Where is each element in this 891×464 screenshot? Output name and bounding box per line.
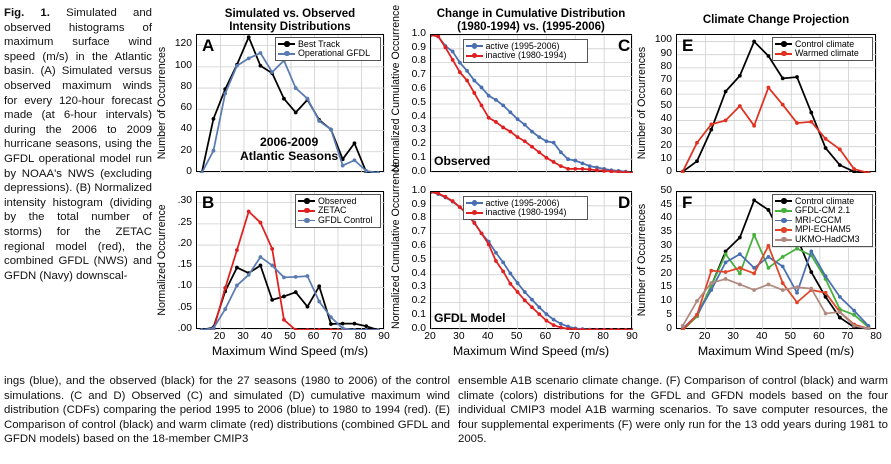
- panel-label-b: B: [202, 193, 214, 213]
- legend-b: Observed ZETAC GFDL Control: [295, 194, 381, 228]
- legend-swatch-mri-cgcm: [775, 216, 792, 225]
- panel-title-c: Change in Cumulative Distribution(1980-1…: [418, 8, 644, 33]
- caption-bottom-right: ensemble A1B scenario climate change. (F…: [458, 374, 888, 447]
- figure-number: Fig. 1.: [4, 7, 50, 19]
- legend-swatch-ukmo-hadcm3: [775, 235, 792, 244]
- annotation-line-2: Atlantic Seasons: [240, 149, 338, 163]
- legend-swatch-active-1995-2006-: [466, 199, 483, 208]
- panel-annotation-a: 2006-2009Atlantic Seasons: [240, 136, 338, 163]
- caption-left-body: Simulated and observed histograms of max…: [4, 7, 152, 282]
- annotation-line-1: 2006-2009: [260, 135, 318, 149]
- panel-title-a: Simulated vs. ObservedIntensity Distribu…: [188, 8, 392, 33]
- legend-row: Warmed climate: [775, 49, 869, 59]
- x-tick-label: 70: [560, 331, 588, 342]
- legend-label: Warmed climate: [795, 49, 859, 59]
- caption-bottom-left: ings (blue), and the observed (black) fo…: [4, 374, 450, 447]
- x-tick-label: 50: [776, 331, 804, 342]
- y-axis-title-a: Number of Occurrences: [156, 34, 168, 172]
- x-tick-label: 80: [862, 331, 890, 342]
- x-axis-title-f: Maximum Wind Speed (m/s): [676, 344, 876, 358]
- legend-swatch-active-1995-2006-: [466, 42, 483, 51]
- panel-label-a: A: [202, 36, 214, 56]
- x-tick-label: 60: [531, 331, 559, 342]
- legend-swatch-control-climate: [775, 197, 792, 206]
- legend-label: inactive (1980-1994): [486, 208, 567, 218]
- panel-annotation-c: Observed: [434, 155, 490, 169]
- legend-row: Operational GFDL: [278, 49, 377, 59]
- legend-row: UKMO-HadCM3: [775, 235, 869, 245]
- panel-label-d: D: [618, 193, 630, 213]
- legend-swatch-best-track: [278, 40, 295, 49]
- legend-swatch-mpi-echam5: [775, 226, 792, 235]
- x-tick-label: 20: [416, 331, 444, 342]
- x-tick-label: 50: [503, 331, 531, 342]
- legend-swatch-gfdl-cm-2-1: [775, 206, 792, 215]
- legend-swatch-control-climate: [775, 40, 792, 49]
- x-tick-label: 80: [589, 331, 617, 342]
- title-line-2: (1980-1994) vs. (1995-2006): [457, 21, 605, 33]
- x-axis-title-d: Maximum Wind Speed (m/s): [430, 344, 632, 358]
- x-axis-title-b: Maximum Wind Speed (m/s): [196, 344, 384, 358]
- panel-label-f: F: [682, 193, 692, 213]
- legend-swatch-operational-gfdl: [278, 49, 295, 58]
- x-tick-label: 30: [719, 331, 747, 342]
- title-line-2: Intensity Distributions: [229, 21, 350, 33]
- legend-label: inactive (1980-1994): [486, 51, 567, 61]
- legend-swatch-inactive-1980-1994-: [466, 51, 483, 60]
- legend-d: active (1995-2006) inactive (1980-1994): [463, 196, 588, 220]
- legend-label: UKMO-HadCM3: [795, 235, 860, 245]
- legend-row: inactive (1980-1994): [466, 51, 584, 61]
- panel-label-c: C: [618, 36, 630, 56]
- panel-annotation-d: GFDL Model: [434, 312, 506, 326]
- x-tick-label: 20: [691, 331, 719, 342]
- x-tick-label: 60: [805, 331, 833, 342]
- x-tick-label: 70: [833, 331, 861, 342]
- legend-e: Control climate Warmed climate: [772, 37, 873, 61]
- x-tick-label: 40: [474, 331, 502, 342]
- panel-label-e: E: [682, 36, 693, 56]
- series-line-b-0: [202, 265, 378, 330]
- legend-c: active (1995-2006) inactive (1980-1994): [463, 39, 588, 63]
- legend-f: Control climate GFDL-CM 2.1 MRI-CGCM MPI…: [772, 194, 873, 247]
- y-axis-title-c: Normalized Cumulative Occurrence: [390, 34, 402, 172]
- panel-title-e: Climate Change Projection: [664, 14, 888, 27]
- legend-row: GFDL Control: [298, 216, 377, 226]
- legend-swatch-gfdl-control: [298, 216, 315, 225]
- legend-swatch-zetac: [298, 206, 315, 215]
- title-line-1: Change in Cumulative Distribution: [437, 8, 625, 20]
- x-tick-label: 90: [370, 331, 398, 342]
- legend-label: Operational GFDL: [298, 49, 370, 59]
- legend-label: GFDL Control: [318, 216, 372, 226]
- legend-swatch-warmed-climate: [775, 49, 792, 58]
- legend-swatch-observed: [298, 197, 315, 206]
- x-tick-label: 40: [748, 331, 776, 342]
- series-line-b-1: [202, 212, 378, 330]
- legend-row: inactive (1980-1994): [466, 208, 584, 218]
- y-axis-title-e: Number of Occurrences: [636, 34, 648, 172]
- title-line-1: Simulated vs. Observed: [225, 8, 355, 20]
- x-tick-label: 30: [445, 331, 473, 342]
- y-axis-title-b: Normalized Occurrence: [156, 191, 168, 329]
- legend-a: Best Track Operational GFDL: [275, 37, 381, 61]
- caption-left-column: Fig. 1. Simulated and observed histogram…: [4, 6, 152, 283]
- y-axis-title-d: Normalized Cumulative Occurrence: [390, 191, 402, 329]
- legend-swatch-inactive-1980-1994-: [466, 208, 483, 217]
- y-axis-title-f: Number of Occurrences: [636, 191, 648, 329]
- figure-root: Fig. 1. Simulated and observed histogram…: [0, 0, 891, 464]
